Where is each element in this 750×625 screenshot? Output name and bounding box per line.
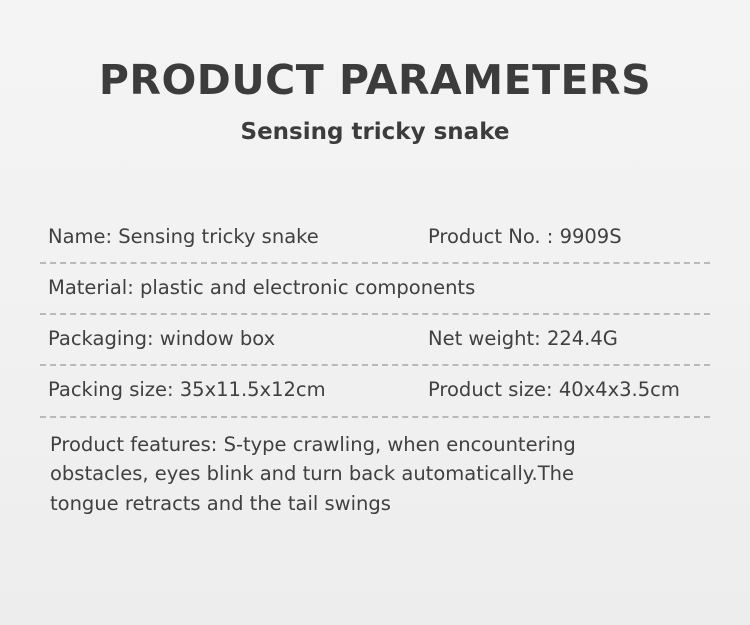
spec-table: Name: Sensing tricky snake Product No. :… xyxy=(40,213,710,519)
page-title: PRODUCT PARAMETERS xyxy=(0,58,750,103)
table-row: Name: Sensing tricky snake Product No. :… xyxy=(40,213,710,264)
spec-material: Material: plastic and electronic compone… xyxy=(43,274,710,302)
features-line-3: tongue retracts and the tail swings xyxy=(48,489,710,519)
spec-packing-size: Packing size: 35x11.5x12cm xyxy=(43,376,428,404)
title-block: PRODUCT PARAMETERS Sensing tricky snake xyxy=(0,0,750,147)
spec-name: Name: Sensing tricky snake xyxy=(43,223,428,251)
features-line-1: Product features: S-type crawling, when … xyxy=(48,430,710,460)
spec-product-size: Product size: 40x4x3.5cm xyxy=(428,376,710,404)
page-subtitle: Sensing tricky snake xyxy=(0,119,750,147)
spec-net-weight: Net weight: 224.4G xyxy=(428,325,710,353)
table-row: Packaging: window box Net weight: 224.4G xyxy=(40,315,710,366)
product-parameters-card: PRODUCT PARAMETERS Sensing tricky snake … xyxy=(0,0,750,625)
table-row: Packing size: 35x11.5x12cm Product size:… xyxy=(40,366,710,417)
spec-features: Product features: S-type crawling, when … xyxy=(43,430,710,519)
spec-product-no: Product No. : 9909S xyxy=(428,223,710,251)
table-row-features: Product features: S-type crawling, when … xyxy=(40,418,710,519)
table-row: Material: plastic and electronic compone… xyxy=(40,264,710,315)
spec-packaging: Packaging: window box xyxy=(43,325,428,353)
features-line-2: obstacles, eyes blink and turn back auto… xyxy=(48,459,710,489)
